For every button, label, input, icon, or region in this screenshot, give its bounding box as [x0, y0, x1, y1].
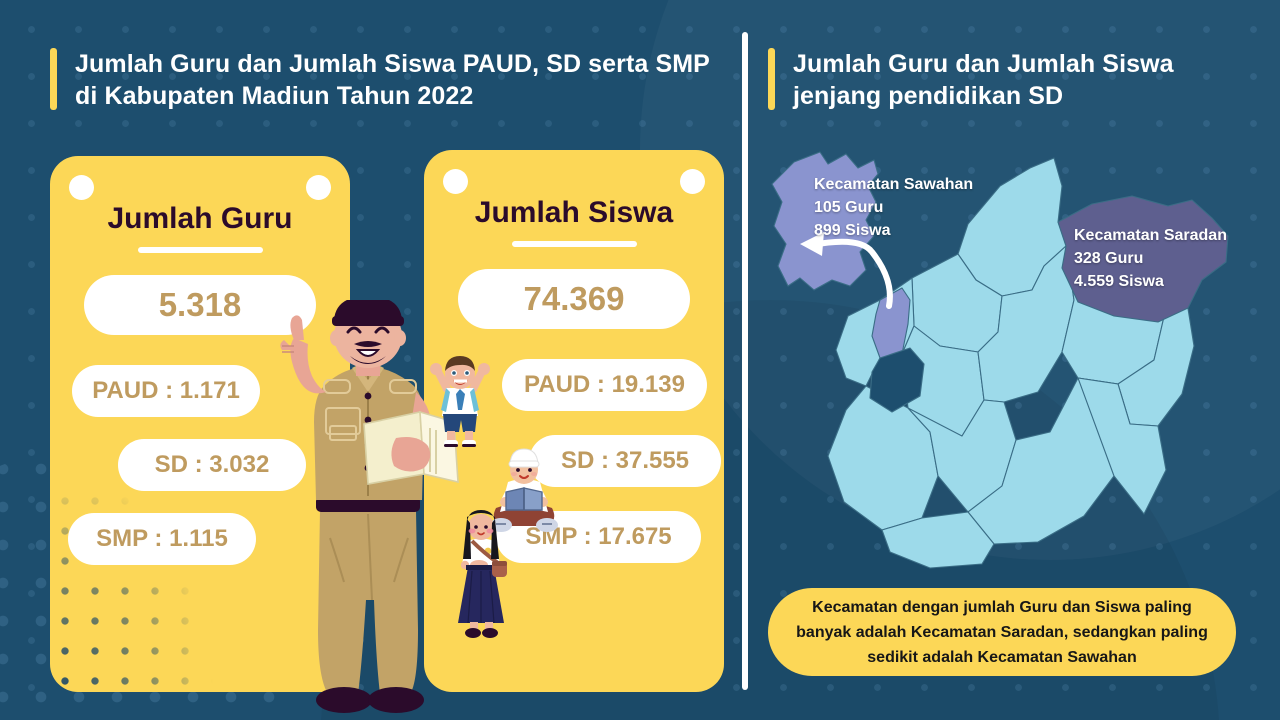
- siswa-paud-value: PAUD : 19.139: [502, 359, 707, 411]
- map-label-saradan-siswa: 4.559 Siswa: [1074, 270, 1227, 293]
- guru-sd-value: SD : 3.032: [118, 439, 306, 491]
- right-panel-heading: Jumlah Guru dan Jumlah Siswa jenjang pen…: [768, 48, 1238, 112]
- map-label-sawahan-name: Kecamatan Sawahan: [814, 173, 973, 196]
- left-panel-heading: Jumlah Guru dan Jumlah Siswa PAUD, SD se…: [50, 48, 710, 112]
- map-caption-text: Kecamatan dengan jumlah Guru dan Siswa p…: [786, 595, 1218, 670]
- card-title-guru: Jumlah Guru: [50, 202, 350, 236]
- heading-accent-bar: [50, 48, 57, 110]
- siswa-smp-value: SMP : 17.675: [496, 511, 701, 563]
- stat-card-guru: Jumlah Guru 5.318 PAUD : 1.171 SD : 3.03…: [50, 156, 350, 692]
- card-hole-right: [680, 169, 705, 194]
- card-title-siswa: Jumlah Siswa: [424, 196, 724, 230]
- siswa-sd-value: SD : 37.555: [529, 435, 721, 487]
- panel-divider: [742, 32, 748, 690]
- card-hole-left: [69, 175, 94, 200]
- map-label-sawahan-guru: 105 Guru: [814, 196, 973, 219]
- guru-smp-value: SMP : 1.115: [68, 513, 256, 565]
- infographic-canvas: Jumlah Guru dan Jumlah Siswa PAUD, SD se…: [0, 0, 1280, 720]
- card-hole-right: [306, 175, 331, 200]
- stat-card-siswa: Jumlah Siswa 74.369 PAUD : 19.139 SD : 3…: [424, 150, 724, 692]
- siswa-total-value: 74.369: [458, 269, 690, 329]
- map-caption-box: Kecamatan dengan jumlah Guru dan Siswa p…: [768, 588, 1236, 676]
- map-label-sawahan-siswa: 899 Siswa: [814, 219, 973, 242]
- map-kabupaten-madiun: Kecamatan Sawahan 105 Guru 899 Siswa Kec…: [762, 140, 1262, 580]
- guru-paud-value: PAUD : 1.171: [72, 365, 260, 417]
- card-hole-left: [443, 169, 468, 194]
- heading-accent-bar: [768, 48, 775, 110]
- left-heading-text: Jumlah Guru dan Jumlah Siswa PAUD, SD se…: [75, 48, 710, 112]
- map-label-saradan-name: Kecamatan Saradan: [1074, 224, 1227, 247]
- map-label-saradan: Kecamatan Saradan 328 Guru 4.559 Siswa: [1074, 224, 1227, 293]
- siswa-breakdown-list: PAUD : 19.139 SD : 37.555 SMP : 17.675: [424, 359, 724, 563]
- guru-total-value: 5.318: [84, 275, 316, 335]
- map-label-sawahan: Kecamatan Sawahan 105 Guru 899 Siswa: [814, 173, 973, 242]
- card-title-underline: [138, 247, 263, 253]
- guru-breakdown-list: PAUD : 1.171 SD : 3.032 SMP : 1.115: [50, 365, 350, 565]
- card-title-underline: [512, 241, 637, 247]
- map-label-saradan-guru: 328 Guru: [1074, 247, 1227, 270]
- right-heading-text: Jumlah Guru dan Jumlah Siswa jenjang pen…: [793, 48, 1238, 112]
